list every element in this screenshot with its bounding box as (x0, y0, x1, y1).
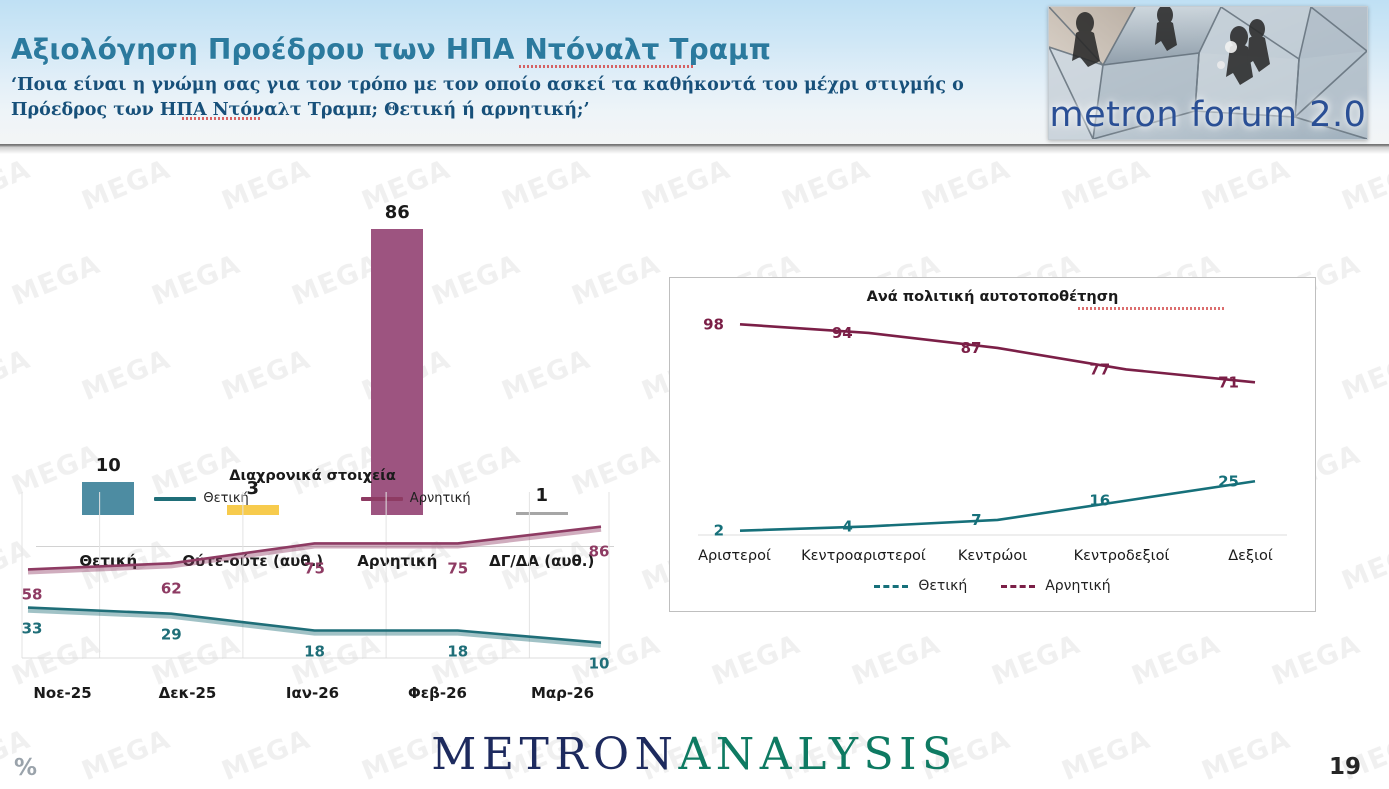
legend-label: Θετική (918, 578, 967, 594)
political-chart-title: Ανά πολιτική αυτοτοποθέτηση (670, 289, 1315, 305)
page-subtitle: ‘Ποια είναι η γνώμη σας για τον τρόπο με… (11, 73, 1021, 123)
series-value-label: 86 (589, 543, 610, 561)
series-value-label: 10 (589, 655, 610, 673)
series-value-label: 58 (22, 585, 43, 603)
series-value-label: 25 (1218, 472, 1239, 490)
series-value-label: 94 (832, 324, 853, 342)
watermark-text: MEGA (1268, 629, 1365, 692)
watermark-text: MEGA (1058, 154, 1155, 217)
watermark-text: MEGA (1198, 154, 1295, 217)
x-axis-label: Μαρ-26 (500, 684, 625, 702)
trend-line-chart: Διαχρονικά στοιχεία ΘετικήΑρνητική 33291… (0, 462, 625, 707)
series-value-label: 98 (703, 315, 724, 333)
series-value-label: 2 (714, 522, 724, 540)
x-axis-label: Κεντροαριστεροί (799, 548, 928, 564)
page-title: Αξιολόγηση Προέδρου των ΗΠΑ Ντόναλτ Τραμ… (11, 33, 771, 66)
series-value-label: 29 (161, 626, 182, 644)
watermark-text: MEGA (1128, 629, 1225, 692)
series-value-label: 62 (161, 579, 182, 597)
x-axis-label: Ιαν-26 (250, 684, 375, 702)
logo-wordmark: metron forum 2.0 (1049, 95, 1367, 135)
series-value-label: 75 (447, 559, 468, 577)
series-value-label: 18 (447, 643, 468, 661)
legend-item: Θετική (874, 578, 967, 594)
series-value-label: 7 (971, 511, 981, 529)
political-placement-chart: Ανά πολιτική αυτοτοποθέτηση 247162598948… (669, 277, 1316, 612)
brand-metron: METRON (431, 729, 678, 780)
series-value-label: 77 (1089, 360, 1110, 378)
series-value-label: 16 (1089, 492, 1110, 510)
slide-canvas: MEGAMEGAMEGAMEGAMEGAMEGAMEGAMEGAMEGAMEGA… (0, 0, 1389, 789)
trend-chart-plot: 33291818105862757586 (0, 486, 625, 686)
watermark-text: MEGA (778, 154, 875, 217)
legend-item: Αρνητική (1001, 578, 1110, 594)
watermark-text: MEGA (1338, 344, 1389, 407)
watermark-text: MEGA (638, 154, 735, 217)
series-line (740, 481, 1255, 530)
series-value-label: 75 (304, 559, 325, 577)
watermark-text: MEGA (988, 629, 1085, 692)
series-value-label: 33 (22, 620, 43, 638)
header-divider-shadow (0, 147, 1389, 154)
political-chart-x-axis-labels: ΑριστεροίΚεντροαριστεροίΚεντρώοιΚεντροδε… (670, 548, 1315, 564)
x-axis-label: Νοε-25 (0, 684, 125, 702)
series-line-shadow (28, 610, 601, 645)
watermark-text: MEGA (1338, 534, 1389, 597)
legend-label: Αρνητική (1045, 578, 1110, 594)
legend-line-swatch (1001, 585, 1035, 588)
x-axis-label: Αριστεροί (670, 548, 799, 564)
watermark-text: MEGA (1338, 154, 1389, 217)
series-value-label: 87 (961, 339, 982, 357)
brand-analysis: ANALYSIS (679, 729, 958, 780)
political-chart-legend: ΘετικήΑρνητική (670, 578, 1315, 594)
watermark-text: MEGA (708, 629, 805, 692)
bar-value-label: 86 (385, 202, 410, 223)
x-axis-label: Δεκ-25 (125, 684, 250, 702)
x-axis-label: Κεντρώοι (928, 548, 1057, 564)
watermark-text: MEGA (848, 629, 945, 692)
x-axis-label: Δεξιοί (1186, 548, 1315, 564)
political-chart-plot: 24716259894877771 (670, 308, 1315, 553)
series-line (740, 324, 1255, 382)
x-axis-label: Κεντροδεξιοί (1057, 548, 1186, 564)
x-axis-label: Φεβ-26 (375, 684, 500, 702)
subtitle-spellcheck-underline (182, 117, 260, 120)
watermark-text: MEGA (918, 154, 1015, 217)
series-value-label: 18 (304, 643, 325, 661)
trend-chart-title: Διαχρονικά στοιχεία (0, 468, 625, 484)
metron-analysis-wordmark: METRONANALYSIS (0, 729, 1389, 780)
main-bar-chart: 103861 ΘετικήΟύτε-ούτε (αυθ.)ΑρνητικήΔΓ/… (0, 155, 620, 430)
series-value-label: 71 (1218, 373, 1239, 391)
metron-forum-logo: metron forum 2.0 (1048, 6, 1368, 140)
page-number: 19 (1329, 754, 1361, 780)
title-spellcheck-underline (519, 65, 694, 68)
legend-line-swatch (874, 585, 908, 588)
series-value-label: 4 (842, 517, 852, 535)
trend-chart-x-axis-labels: Νοε-25Δεκ-25Ιαν-26Φεβ-26Μαρ-26 (0, 684, 625, 702)
